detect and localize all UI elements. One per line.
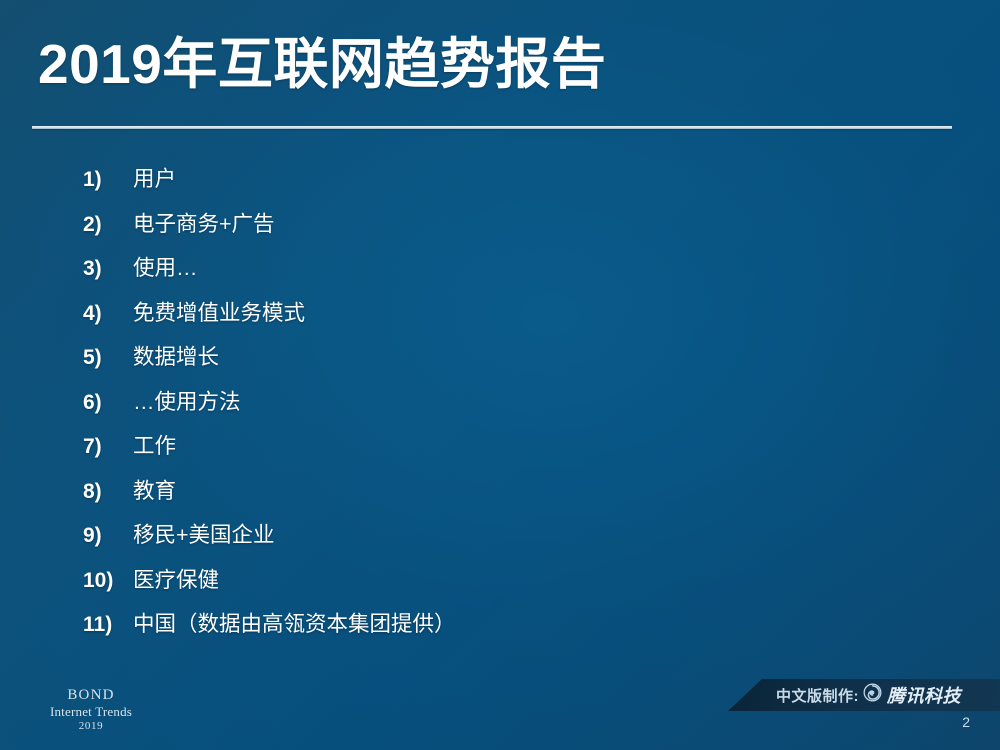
agenda-item-number: 10) [83, 569, 133, 593]
agenda-item-number: 1) [83, 168, 133, 192]
tencent-credit-banner: 中文版制作: 腾讯科技 [728, 679, 1000, 711]
bond-logo: BOND Internet Trends 2019 [36, 686, 146, 734]
agenda-item-5[interactable]: 5) 数据增长 [0, 340, 1000, 385]
bond-logo-year: 2019 [36, 720, 146, 733]
agenda-item-6[interactable]: 6) …使用方法 [0, 385, 1000, 430]
presentation-slide: 2019年互联网趋势报告 1) 用户 2) 电子商务+广告 3) 使用… 4) … [0, 0, 1000, 750]
title-divider [32, 126, 952, 129]
agenda-item-number: 4) [83, 302, 133, 326]
agenda-item-number: 7) [83, 435, 133, 459]
slide-title: 2019年互联网趋势报告 [38, 34, 606, 95]
agenda-item-label: 用户 [133, 162, 176, 193]
agenda-item-number: 6) [83, 391, 133, 415]
tencent-brand-name: 腾讯科技 [887, 682, 961, 708]
agenda-item-label: 使用… [133, 251, 198, 282]
agenda-item-number: 8) [83, 480, 133, 504]
agenda-list: 1) 用户 2) 电子商务+广告 3) 使用… 4) 免费增值业务模式 5) 数… [0, 162, 1000, 652]
agenda-item-label: 医疗保健 [133, 563, 219, 594]
agenda-item-number: 3) [83, 257, 133, 281]
bond-logo-name: BOND [36, 686, 146, 704]
agenda-item-number: 11) [83, 613, 133, 637]
page-number: 2 [962, 714, 970, 730]
agenda-item-number: 2) [83, 213, 133, 237]
agenda-item-11[interactable]: 11) 中国（数据由高瓴资本集团提供） [0, 607, 1000, 652]
agenda-item-10[interactable]: 10) 医疗保健 [0, 563, 1000, 608]
agenda-item-label: 免费增值业务模式 [133, 296, 305, 327]
tencent-credit-prefix: 中文版制作: [776, 685, 859, 706]
agenda-item-4[interactable]: 4) 免费增值业务模式 [0, 296, 1000, 341]
agenda-item-7[interactable]: 7) 工作 [0, 429, 1000, 474]
agenda-item-label: 移民+美国企业 [133, 518, 275, 549]
agenda-item-1[interactable]: 1) 用户 [0, 162, 1000, 207]
agenda-item-label: 中国（数据由高瓴资本集团提供） [133, 607, 456, 638]
agenda-item-number: 5) [83, 346, 133, 370]
agenda-item-9[interactable]: 9) 移民+美国企业 [0, 518, 1000, 563]
bond-logo-subtitle: Internet Trends [36, 704, 146, 720]
agenda-item-label: 工作 [133, 429, 176, 460]
agenda-item-8[interactable]: 8) 教育 [0, 474, 1000, 519]
agenda-item-number: 9) [83, 524, 133, 548]
agenda-item-3[interactable]: 3) 使用… [0, 251, 1000, 296]
tencent-swirl-icon [863, 683, 882, 707]
agenda-item-label: 数据增长 [133, 340, 219, 371]
agenda-item-label: 教育 [133, 474, 176, 505]
agenda-item-label: …使用方法 [133, 385, 241, 416]
agenda-item-label: 电子商务+广告 [133, 207, 275, 238]
agenda-item-2[interactable]: 2) 电子商务+广告 [0, 207, 1000, 252]
